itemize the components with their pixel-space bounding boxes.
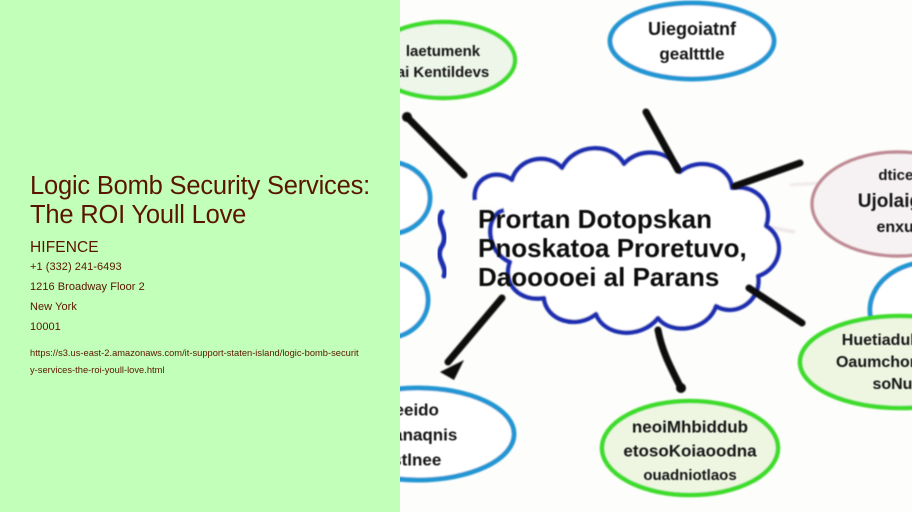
node-bottom-center-line-2: etosoKoiaoodna — [623, 441, 757, 460]
address-city: New York — [30, 297, 382, 317]
node-top-left-line-1: laetumenk — [406, 43, 481, 60]
mind-map-svg: Prortan Dotopskan Pnoskatoa Proretuvo, D… — [400, 0, 912, 512]
address-zip: 10001 — [30, 317, 382, 337]
node-bottom-left-line-1: seeido — [400, 400, 439, 419]
node-top-left: laetumenk ai Kentildevs — [400, 22, 515, 98]
node-bottom-center-line-3: ouadniotlaos — [643, 467, 736, 484]
cloud-text-line-2: Pnoskatoa Proretuvo, — [478, 233, 747, 263]
node-top-center: Uiegoiatnf gealtttle — [610, 3, 774, 79]
node-top-left-line-2: ai Kentildevs — [400, 64, 489, 81]
node-right-upper-line-1: dticee — [878, 167, 912, 184]
node-right-lower-line-1: Huetiadubjisnvu — [842, 332, 912, 349]
node-top-center-line-1: Uiegoiatnf — [648, 19, 737, 39]
node-bottom-center-line-1: neoiMhbiddub — [632, 417, 748, 436]
node-bottom-center: neoiMhbiddub etosoKoiaoodna ouadniotlaos — [602, 401, 778, 495]
center-cloud-text: Prortan Dotopskan Pnoskatoa Proretuvo, D… — [478, 204, 747, 292]
page-title: Logic Bomb Security Services: The ROI Yo… — [30, 172, 382, 230]
phone-number: +1 (332) 241-6493 — [30, 257, 382, 277]
company-name: HIFENCE — [30, 239, 382, 257]
node-right-upper-line-2: Ujolaigiie — [858, 191, 912, 212]
cloud-text-line-1: Prortan Dotopskan — [478, 204, 712, 234]
node-right-lower-line-3: soNuoie — [872, 376, 912, 393]
left-info-panel: Logic Bomb Security Services: The ROI Yo… — [0, 0, 400, 512]
address-street: 1216 Broadway Floor 2 — [30, 277, 382, 297]
cloud-text-line-3: Daooooei al Parans — [478, 262, 719, 292]
node-bottom-left-line-3: estlnee — [400, 450, 441, 469]
left-panel-content: Logic Bomb Security Services: The ROI Yo… — [30, 172, 382, 379]
node-right-lower-line-2: Oaumchonaiebter — [836, 354, 912, 371]
node-right-upper-line-3: enxuu — [876, 219, 912, 236]
node-top-center-line-2: gealtttle — [659, 44, 724, 63]
poster-page: Logic Bomb Security Services: The ROI Yo… — [0, 0, 912, 512]
node-bottom-left-line-2: nreanaqnis — [400, 425, 457, 444]
source-url: https://s3.us-east-2.amazonaws.com/it-su… — [30, 345, 360, 379]
mind-map-illustration: Prortan Dotopskan Pnoskatoa Proretuvo, D… — [400, 0, 912, 512]
